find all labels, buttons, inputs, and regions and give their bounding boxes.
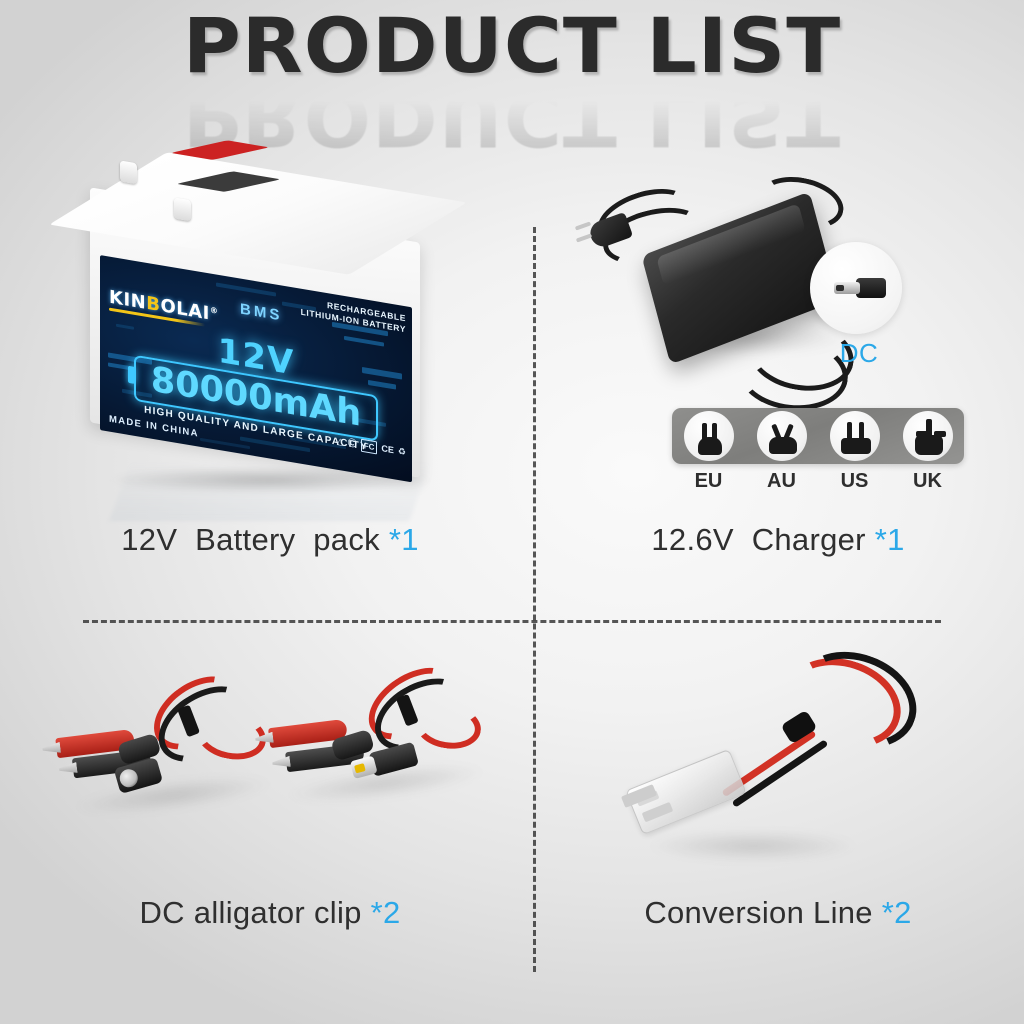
- plug-option-us-icon[interactable]: [830, 411, 880, 461]
- battery-body: RECHARGEABLE LITHIUM-ION BATTERY KINBOLA…: [90, 187, 420, 477]
- rohs-circle-icon: Ⓒ: [348, 438, 357, 451]
- fcc-icon: FC: [361, 439, 378, 455]
- product-cell-conversion-line: Conversion Line *2: [548, 650, 1008, 980]
- brand-registered-mark: ®: [210, 305, 219, 315]
- charger-eu-plug-pin-1: [575, 221, 591, 230]
- alligator-clip-set-female: [50, 667, 300, 874]
- plug-option-au-icon[interactable]: [757, 411, 807, 461]
- caption-charger-text: 12.6V Charger: [651, 522, 874, 557]
- caption-conversion-line: Conversion Line *2: [548, 895, 1008, 931]
- plug-type-labels: EU AU US UK: [672, 466, 964, 496]
- caption-alligator-clip-qty: *2: [371, 895, 401, 930]
- product-cell-charger: DC: [548, 150, 1008, 590]
- caption-battery-text: 12V Battery pack: [121, 522, 389, 557]
- caption-alligator-clip: DC alligator clip *2: [20, 895, 520, 931]
- plug-label-uk: UK: [903, 470, 953, 493]
- battery-image: RECHARGEABLE LITHIUM-ION BATTERY KINBOLA…: [90, 175, 480, 495]
- charger-image: DC: [588, 170, 988, 500]
- battery-terminal-post-positive: [120, 160, 137, 184]
- alligator-clip-set-male: [262, 651, 512, 858]
- dc-barrel-connector: [834, 278, 886, 298]
- product-cell-alligator-clip: DC alligator clip *2: [20, 650, 520, 980]
- conversion-line-image: [608, 650, 988, 890]
- clip-jaw-black-right: [272, 756, 291, 769]
- caption-alligator-clip-text: DC alligator clip: [140, 895, 371, 930]
- plug-type-strip: [672, 408, 964, 464]
- conversion-wire-black-loop: [782, 636, 930, 765]
- ce-icon: CE: [381, 443, 394, 456]
- battery-terminal-negative: [176, 171, 280, 192]
- clip-jaw-black-left: [58, 762, 77, 775]
- conversion-line-shadow: [648, 830, 858, 862]
- page-title-block: PRODUCT LIST PRODUCT LIST: [0, 8, 1024, 156]
- plug-option-uk-icon[interactable]: [903, 411, 953, 461]
- battery-label: RECHARGEABLE LITHIUM-ION BATTERY KINBOLA…: [100, 255, 412, 482]
- product-list-page: PRODUCT LIST PRODUCT LIST: [0, 0, 1024, 1024]
- plug-label-au: AU: [757, 470, 807, 493]
- clip-shadow-left: [72, 768, 274, 822]
- caption-charger: 12.6V Charger *1: [548, 522, 1008, 558]
- charger-eu-plug-pin-2: [576, 233, 592, 242]
- caption-conversion-line-qty: *2: [882, 895, 912, 930]
- clip-jaw-red-left: [42, 742, 61, 755]
- dc-barrel-sleeve: [856, 278, 886, 298]
- divider-horizontal: [83, 620, 941, 623]
- battery-terminal-post-negative: [174, 197, 191, 221]
- caption-charger-qty: *1: [875, 522, 905, 557]
- page-title: PRODUCT LIST: [0, 8, 1024, 84]
- wheelie-bin-icon: △: [337, 436, 344, 448]
- dc-label: DC: [816, 338, 902, 369]
- plug-label-eu: EU: [684, 470, 734, 493]
- plug-label-us: US: [830, 470, 880, 493]
- caption-conversion-line-text: Conversion Line: [644, 895, 881, 930]
- page-title-reflection: PRODUCT LIST: [0, 80, 1024, 156]
- alligator-clip-image: [50, 660, 510, 870]
- brand-accent-letter: B: [146, 293, 160, 316]
- caption-battery-qty: *1: [389, 522, 419, 557]
- recycle-icon: ♻: [398, 446, 406, 458]
- divider-vertical: [533, 227, 536, 972]
- dc-barrel-tip: [836, 285, 844, 291]
- caption-battery: 12V Battery pack *1: [20, 522, 520, 558]
- product-cell-battery: RECHARGEABLE LITHIUM-ION BATTERY KINBOLA…: [20, 150, 520, 590]
- plug-option-eu-icon[interactable]: [684, 411, 734, 461]
